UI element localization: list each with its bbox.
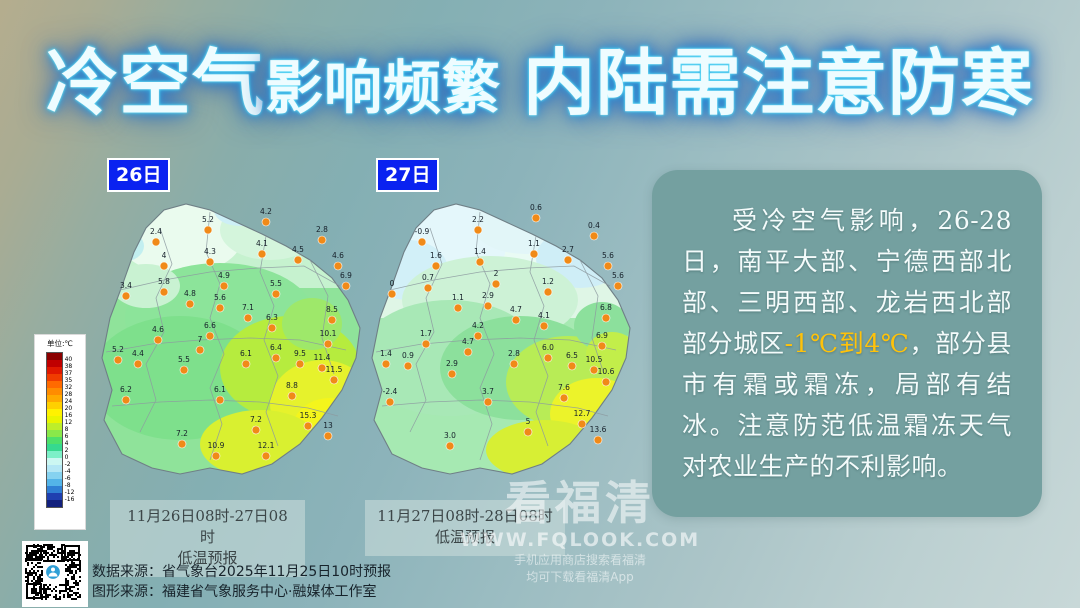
svg-text:4.7: 4.7 <box>510 305 522 314</box>
svg-text:5.2: 5.2 <box>202 215 214 224</box>
temperature-range-highlight: -1℃到4℃ <box>785 329 910 358</box>
svg-text:12.7: 12.7 <box>574 409 591 418</box>
map-svg-day27: 2.20.6 -0.91.6 1.41.1 2.70.4 5.65.6 21.2… <box>330 168 660 498</box>
svg-text:2.2: 2.2 <box>472 215 484 224</box>
svg-text:7.2: 7.2 <box>176 429 188 438</box>
svg-text:5: 5 <box>526 417 531 426</box>
legend-color-bar <box>46 352 63 508</box>
legend-swatch <box>47 465 62 472</box>
svg-text:4.8: 4.8 <box>184 289 196 298</box>
svg-text:3.4: 3.4 <box>120 281 132 290</box>
legend-swatch <box>47 395 62 402</box>
legend-swatch <box>47 402 62 409</box>
infographic-canvas: 冷空气影响频繁内陆需注意防寒 26日 27日 <box>0 0 1080 608</box>
legend-swatch <box>47 423 62 430</box>
page-title: 冷空气影响频繁内陆需注意防寒 <box>0 40 1080 126</box>
legend-swatch <box>47 472 62 479</box>
svg-text:2.9: 2.9 <box>446 359 458 368</box>
svg-text:10.6: 10.6 <box>598 367 615 376</box>
legend-swatch <box>47 360 62 367</box>
svg-text:13.6: 13.6 <box>590 425 607 434</box>
svg-text:6.9: 6.9 <box>596 331 608 340</box>
svg-text:8.8: 8.8 <box>286 381 298 390</box>
svg-text:4.1: 4.1 <box>256 239 268 248</box>
legend-swatch <box>47 437 62 444</box>
svg-text:1.1: 1.1 <box>452 293 464 302</box>
legend-swatch <box>47 416 62 423</box>
svg-text:6.8: 6.8 <box>600 303 612 312</box>
svg-text:4.9: 4.9 <box>218 271 230 280</box>
svg-text:7: 7 <box>198 335 203 344</box>
svg-text:0.7: 0.7 <box>422 273 434 282</box>
svg-text:6.1: 6.1 <box>214 385 226 394</box>
legend-swatch <box>47 409 62 416</box>
legend-swatch <box>47 381 62 388</box>
legend-swatch <box>47 374 62 381</box>
svg-text:4: 4 <box>162 251 167 260</box>
svg-text:6.5: 6.5 <box>566 351 578 360</box>
svg-text:-2.4: -2.4 <box>383 387 398 396</box>
legend-swatch <box>47 444 62 451</box>
qr-center-logo <box>46 565 61 580</box>
legend-tick-labels: 4038373532282420161286420-2-4-6-8-12-16 <box>65 352 75 508</box>
svg-text:11.4: 11.4 <box>314 353 331 362</box>
legend-swatch <box>47 486 62 493</box>
svg-text:1.6: 1.6 <box>430 251 442 260</box>
svg-text:1.1: 1.1 <box>528 239 540 248</box>
qr-code[interactable] <box>22 541 88 607</box>
svg-text:12.1: 12.1 <box>258 441 275 450</box>
legend-swatch <box>47 458 62 465</box>
svg-text:2.8: 2.8 <box>508 349 520 358</box>
svg-text:5.6: 5.6 <box>214 293 226 302</box>
svg-text:6.3: 6.3 <box>266 313 278 322</box>
temperature-map-day27: 2.20.6 -0.91.6 1.41.1 2.70.4 5.65.6 21.2… <box>330 168 660 498</box>
svg-text:0.6: 0.6 <box>530 203 542 212</box>
svg-text:5.8: 5.8 <box>158 277 170 286</box>
legend-swatch <box>47 451 62 458</box>
svg-text:2.7: 2.7 <box>562 245 574 254</box>
legend-swatch <box>47 493 62 500</box>
legend-swatch <box>47 430 62 437</box>
legend-swatch <box>47 367 62 374</box>
svg-text:15.3: 15.3 <box>300 411 317 420</box>
qr-code-svg <box>24 543 82 601</box>
svg-text:2: 2 <box>494 269 499 278</box>
svg-text:4.2: 4.2 <box>260 207 272 216</box>
svg-text:1.4: 1.4 <box>380 349 392 358</box>
caption-period-26: 11月26日08时-27日08时 <box>120 506 295 548</box>
svg-text:-0.9: -0.9 <box>415 227 430 236</box>
svg-text:5.2: 5.2 <box>112 345 124 354</box>
svg-text:4.2: 4.2 <box>472 321 484 330</box>
svg-text:1.2: 1.2 <box>542 277 554 286</box>
svg-text:4.6: 4.6 <box>152 325 164 334</box>
legend-unit-label: 单位:℃ <box>47 338 73 349</box>
credit-data-source: 数据来源：省气象台2025年11月25日10时预报 <box>92 562 391 582</box>
svg-text:7.1: 7.1 <box>242 303 254 312</box>
svg-text:2.4: 2.4 <box>150 227 162 236</box>
svg-text:4.3: 4.3 <box>204 247 216 256</box>
svg-text:4.1: 4.1 <box>538 311 550 320</box>
legend-swatch <box>47 353 62 360</box>
svg-text:5.5: 5.5 <box>178 355 190 364</box>
svg-text:7.2: 7.2 <box>250 415 262 424</box>
legend-tick: -16 <box>65 497 75 504</box>
svg-text:3.0: 3.0 <box>444 431 456 440</box>
svg-text:2.9: 2.9 <box>482 291 494 300</box>
svg-text:0.4: 0.4 <box>588 221 600 230</box>
svg-text:10.9: 10.9 <box>208 441 225 450</box>
svg-text:5.6: 5.6 <box>602 251 614 260</box>
svg-text:2.8: 2.8 <box>316 225 328 234</box>
svg-text:9.5: 9.5 <box>294 349 306 358</box>
svg-text:1.7: 1.7 <box>420 329 432 338</box>
svg-text:6.4: 6.4 <box>270 343 282 352</box>
svg-text:4.7: 4.7 <box>462 337 474 346</box>
map-caption-day27: 11月27日08时-28日08时 低温预报 <box>365 500 565 556</box>
title-lead: 冷空气 <box>46 40 265 125</box>
legend-body: 4038373532282420161286420-2-4-6-8-12-16 <box>46 352 75 508</box>
svg-text:4.4: 4.4 <box>132 349 144 358</box>
svg-text:0.9: 0.9 <box>402 351 414 360</box>
credit-graphic-source: 图形来源：福建省气象服务中心·融媒体工作室 <box>92 582 391 602</box>
svg-text:0: 0 <box>390 279 395 288</box>
caption-type-27: 低温预报 <box>375 527 555 548</box>
legend-swatch <box>47 479 62 486</box>
watermark-sub2: 均可下载看福清App <box>430 569 730 586</box>
svg-text:7.6: 7.6 <box>558 383 570 392</box>
legend-swatch <box>47 388 62 395</box>
svg-text:10.5: 10.5 <box>586 355 603 364</box>
legend-swatch <box>47 500 62 507</box>
svg-text:6.6: 6.6 <box>204 321 216 330</box>
svg-text:6.1: 6.1 <box>240 349 252 358</box>
svg-text:3.7: 3.7 <box>482 387 494 396</box>
svg-text:4.5: 4.5 <box>292 245 304 254</box>
svg-text:1.4: 1.4 <box>474 247 486 256</box>
svg-text:5.6: 5.6 <box>612 271 624 280</box>
title-rest: 影响频繁 <box>265 54 501 122</box>
svg-text:5.5: 5.5 <box>270 279 282 288</box>
forecast-paragraph: 受冷空气影响，26-28日，南平大部、宁德西部北部、三明西部、龙岩西北部部分城区… <box>682 200 1012 487</box>
svg-text:6.2: 6.2 <box>120 385 132 394</box>
svg-text:6.0: 6.0 <box>542 343 554 352</box>
title-second: 内陆需注意防寒 <box>523 40 1034 125</box>
forecast-text-panel: 受冷空气影响，26-28日，南平大部、宁德西部北部、三明西部、龙岩西北部部分城区… <box>652 170 1042 517</box>
credits: 数据来源：省气象台2025年11月25日10时预报 图形来源：福建省气象服务中心… <box>92 562 391 602</box>
temperature-legend: 单位:℃ 4038373532282420161286420-2-4-6-8-1… <box>34 334 86 530</box>
caption-period-27: 11月27日08时-28日08时 <box>375 506 555 527</box>
